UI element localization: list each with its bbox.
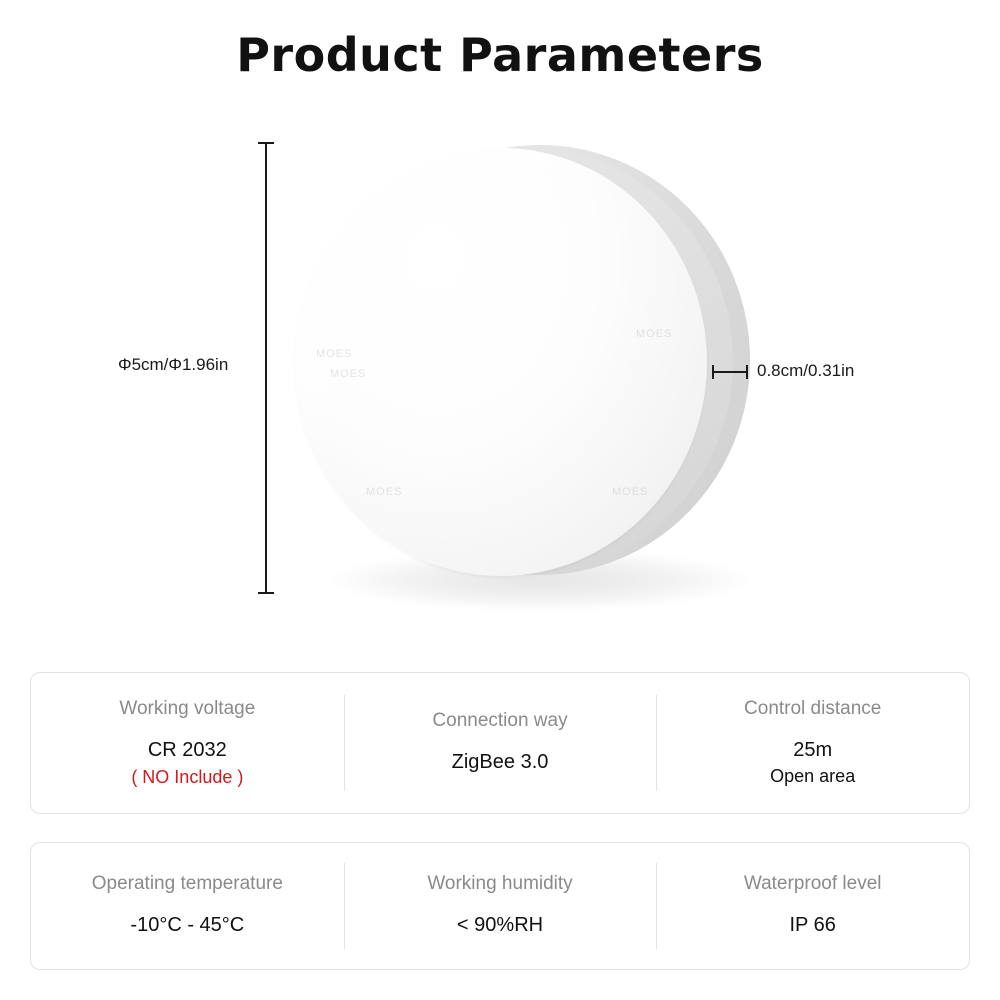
spec-cell-control-distance: Control distance 25m Open area [656,673,969,813]
product-parameters-page: Product Parameters MOES MOES MOES MOES M… [0,0,1000,1000]
diameter-dimension-line [265,142,267,594]
spec-value-working-humidity: < 90%RH [457,912,543,939]
spec-panel-row-1: Working voltage CR 2032 ( NO Include ) C… [30,672,970,814]
spec-value-control-distance: 25m [793,737,832,764]
diameter-dimension-cap-bottom [258,592,274,594]
spec-label-operating-temperature: Operating temperature [92,873,283,895]
product-front-face [295,148,707,576]
spec-cell-working-voltage: Working voltage CR 2032 ( NO Include ) [31,673,344,813]
page-title: Product Parameters [0,28,1000,82]
spec-cell-waterproof-level: Waterproof level IP 66 [656,843,969,969]
watermark-1: MOES [316,348,352,360]
thickness-dimension-cap-right [746,365,748,379]
spec-cell-connection-way: Connection way ZigBee 3.0 [344,673,657,813]
watermark-3: MOES [636,328,672,340]
spec-note-working-voltage: ( NO Include ) [131,767,243,788]
spec-label-waterproof-level: Waterproof level [744,873,882,895]
spec-label-working-humidity: Working humidity [427,873,572,895]
watermark-5: MOES [612,486,648,498]
spec-sub-control-distance: Open area [770,764,855,788]
spec-label-control-distance: Control distance [744,698,881,720]
thickness-dimension-bar [712,371,748,373]
spec-panel-row-2: Operating temperature -10°C - 45°C Worki… [30,842,970,970]
spec-value-waterproof-level: IP 66 [790,912,836,939]
spec-value-operating-temperature: -10°C - 45°C [130,912,244,939]
spec-value-working-voltage: CR 2032 [148,737,227,764]
watermark-2: MOES [330,368,366,380]
diameter-dimension-label: Φ5cm/Φ1.96in [118,355,228,375]
thickness-dimension-label: 0.8cm/0.31in [757,361,854,381]
watermark-4: MOES [366,486,402,498]
spec-label-working-voltage: Working voltage [119,698,255,720]
product-image-area: MOES MOES MOES MOES MOES Φ5cm/Φ1.96in 0.… [0,120,1000,660]
spec-value-connection-way: ZigBee 3.0 [452,749,549,776]
spec-label-connection-way: Connection way [432,710,567,732]
spec-cell-working-humidity: Working humidity < 90%RH [344,843,657,969]
spec-cell-operating-temperature: Operating temperature -10°C - 45°C [31,843,344,969]
thickness-dimension-line [712,365,748,379]
